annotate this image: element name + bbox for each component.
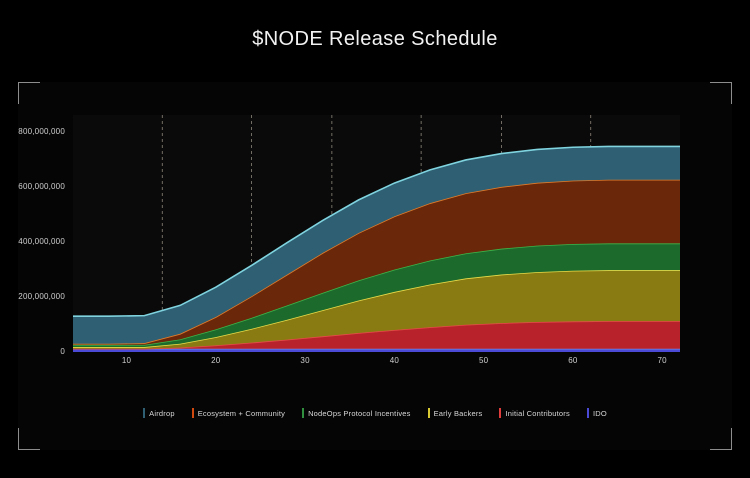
legend-item-ecosystem-community[interactable]: Ecosystem + Community [192, 408, 285, 418]
x-axis-tick-2: 30 [300, 356, 309, 365]
corner-bracket-bottom-left [18, 428, 40, 450]
corner-bracket-top-left [18, 82, 40, 104]
y-axis-tick-1: 200,000,000 [18, 292, 71, 301]
x-axis-tick-1: 20 [211, 356, 220, 365]
legend-item-label: Airdrop [149, 409, 175, 418]
chart-legend: AirdropEcosystem + CommunityNodeOps Prot… [18, 404, 732, 422]
legend-item-early-backers[interactable]: Early Backers [428, 408, 483, 418]
x-axis-tick-0: 10 [122, 356, 131, 365]
y-axis-tick-3: 600,000,000 [18, 182, 71, 191]
legend-swatch-icon [192, 408, 194, 418]
legend-item-label: NodeOps Protocol Incentives [308, 409, 411, 418]
y-axis: 0200,000,000400,000,000600,000,000800,00… [0, 115, 71, 352]
chart-page: $NODE Release Schedule 0200,000,000400,0… [0, 0, 750, 478]
legend-swatch-icon [428, 408, 430, 418]
legend-item-label: IDO [593, 409, 607, 418]
legend-swatch-icon [302, 408, 304, 418]
legend-item-label: Early Backers [434, 409, 483, 418]
legend-item-nodeops-protocol-incentives[interactable]: NodeOps Protocol Incentives [302, 408, 411, 418]
legend-item-label: Initial Contributors [505, 409, 569, 418]
x-axis-tick-3: 40 [390, 356, 399, 365]
x-axis: 10203040506070 [73, 356, 680, 372]
stacked-area-chart [73, 115, 680, 352]
x-axis-tick-5: 60 [568, 356, 577, 365]
x-axis-tick-4: 50 [479, 356, 488, 365]
legend-swatch-icon [587, 408, 589, 418]
y-axis-tick-4: 800,000,000 [18, 127, 71, 136]
y-axis-tick-0: 0 [60, 347, 71, 356]
corner-bracket-bottom-right [710, 428, 732, 450]
page-title: $NODE Release Schedule [0, 28, 750, 51]
legend-item-airdrop[interactable]: Airdrop [143, 408, 175, 418]
legend-item-ido[interactable]: IDO [587, 408, 607, 418]
y-axis-tick-2: 400,000,000 [18, 237, 71, 246]
legend-item-initial-contributors[interactable]: Initial Contributors [499, 408, 569, 418]
legend-swatch-icon [499, 408, 501, 418]
corner-bracket-top-right [710, 82, 732, 104]
legend-item-label: Ecosystem + Community [198, 409, 285, 418]
plot-area [73, 115, 680, 352]
x-axis-tick-6: 70 [657, 356, 666, 365]
legend-swatch-icon [143, 408, 145, 418]
